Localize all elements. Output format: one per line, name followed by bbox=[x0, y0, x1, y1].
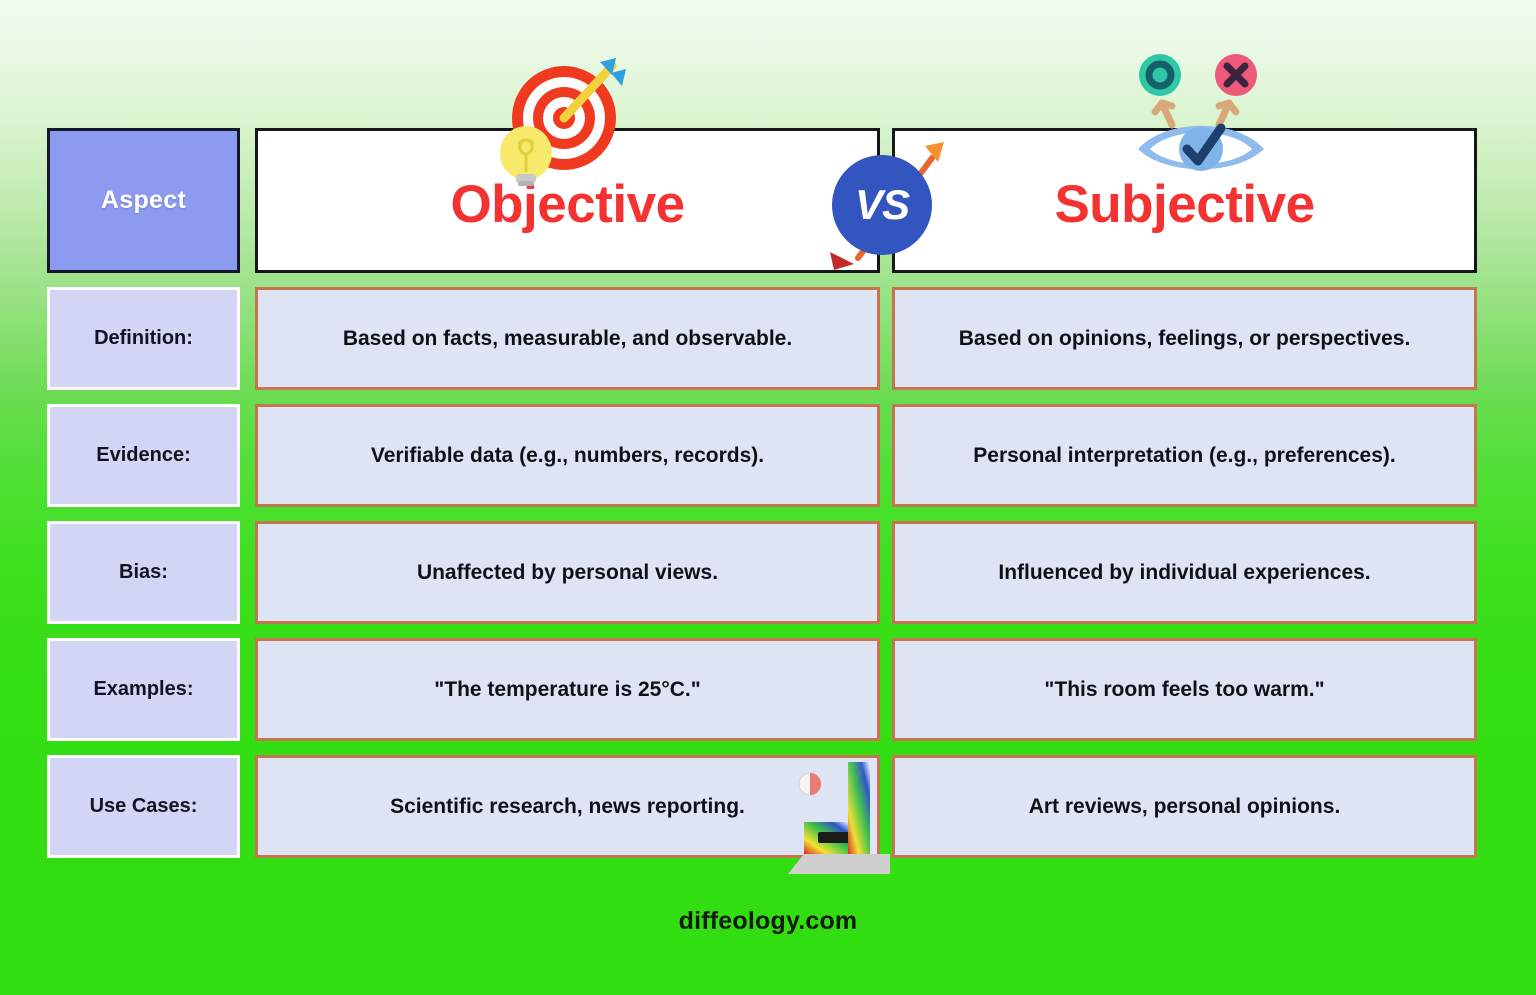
target-arrow-icon bbox=[492, 56, 627, 186]
objective-cell-bias: Unaffected by personal views. bbox=[255, 521, 880, 624]
column-gap bbox=[880, 638, 892, 741]
column-gap bbox=[240, 287, 255, 390]
column-gap bbox=[240, 755, 255, 858]
column-gap bbox=[880, 404, 892, 507]
subjective-cell-bias: Influenced by individual experiences. bbox=[892, 521, 1477, 624]
eye-check-icon bbox=[1126, 52, 1276, 177]
subjective-title: Subjective bbox=[1054, 178, 1314, 231]
diffeology-logo-icon bbox=[778, 762, 918, 892]
objective-cell-definition: Based on facts, measurable, and observab… bbox=[255, 287, 880, 390]
arrow-up-icon bbox=[1155, 103, 1236, 125]
table-row: Evidence: Verifiable data (e.g., numbers… bbox=[47, 404, 1477, 507]
vs-badge: VS bbox=[832, 155, 932, 255]
row-label-evidence: Evidence: bbox=[47, 404, 240, 507]
objective-cell-examples: "The temperature is 25°C." bbox=[255, 638, 880, 741]
table-row: Bias: Unaffected by personal views. Infl… bbox=[47, 521, 1477, 624]
row-label-bias: Bias: bbox=[47, 521, 240, 624]
table-row: Use Cases: Scientific research, news rep… bbox=[47, 755, 1477, 858]
column-gap bbox=[240, 521, 255, 624]
column-gap bbox=[240, 128, 255, 273]
teal-circle-icon bbox=[1139, 54, 1181, 96]
objective-cell-evidence: Verifiable data (e.g., numbers, records)… bbox=[255, 404, 880, 507]
column-gap bbox=[240, 638, 255, 741]
column-gap bbox=[880, 287, 892, 390]
subjective-cell-definition: Based on opinions, feelings, or perspect… bbox=[892, 287, 1477, 390]
site-watermark: diffeology.com bbox=[0, 907, 1536, 936]
table-row: Definition: Based on facts, measurable, … bbox=[47, 287, 1477, 390]
table-row: Examples: "The temperature is 25°C." "Th… bbox=[47, 638, 1477, 741]
column-gap bbox=[240, 404, 255, 507]
aspect-header-cell: Aspect bbox=[47, 128, 240, 273]
column-gap bbox=[880, 521, 892, 624]
subjective-cell-examples: "This room feels too warm." bbox=[892, 638, 1477, 741]
row-label-examples: Examples: bbox=[47, 638, 240, 741]
subjective-cell-use-cases: Art reviews, personal opinions. bbox=[892, 755, 1477, 858]
row-label-definition: Definition: bbox=[47, 287, 240, 390]
comparison-table: Aspect Objective Subjective Definition: … bbox=[47, 128, 1477, 858]
row-label-use-cases: Use Cases: bbox=[47, 755, 240, 858]
subjective-cell-evidence: Personal interpretation (e.g., preferenc… bbox=[892, 404, 1477, 507]
